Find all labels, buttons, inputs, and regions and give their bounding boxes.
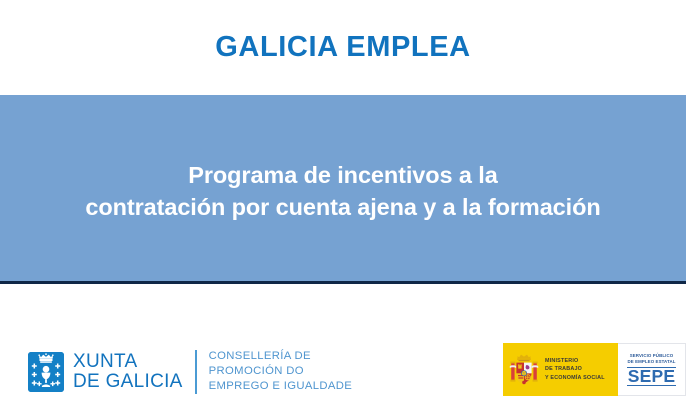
ministerio-line-2: DE TRABAJO (545, 365, 605, 373)
banner-text-block: Programa de incentivos a la contratación… (85, 153, 600, 224)
sepe-subtitle: SERVICIO PÚBLICO DE EMPLEO ESTATAL (627, 353, 675, 366)
conselleria-line-3: EMPREGO E IGUALDADE (209, 379, 353, 394)
ministerio-wordmark: MINISTERIO DE TRABAJO Y ECONOMÍA SOCIAL (545, 357, 605, 381)
xunta-wordmark-line-1: XUNTA (73, 352, 183, 371)
banner-line-2: contratación por cuenta ajena y a la for… (85, 191, 600, 223)
ministerio-line-1: MINISTERIO (545, 357, 605, 365)
spain-coat-of-arms-icon (508, 350, 540, 390)
xunta-de-galicia-logo: XUNTA DE GALICIA CONSELLERÍA DE PROMOCIÓ… (28, 349, 352, 394)
conselleria-line-1: CONSELLERÍA DE (209, 349, 353, 364)
ministerio-line-3: Y ECONOMÍA SOCIAL (545, 374, 605, 382)
xunta-wordmark-line-2: DE GALICIA (73, 372, 183, 391)
logo-divider (195, 350, 197, 394)
title-zone: GALICIA EMPLEA (0, 0, 686, 95)
conselleria-line-2: PROMOCIÓN DO (209, 364, 353, 379)
program-banner: Programa de incentivos a la contratación… (0, 95, 686, 284)
footer-logo-bar: XUNTA DE GALICIA CONSELLERÍA DE PROMOCIÓ… (0, 287, 686, 410)
gobierno-de-espana-logo: MINISTERIO DE TRABAJO Y ECONOMÍA SOCIAL … (503, 343, 686, 396)
sepe-logo: SERVICIO PÚBLICO DE EMPLEO ESTATAL SEPE (618, 343, 686, 396)
sepe-subtitle-line-2: DE EMPLEO ESTATAL (627, 359, 675, 365)
conselleria-wordmark: CONSELLERÍA DE PROMOCIÓN DO EMPREGO E IG… (209, 349, 353, 394)
sepe-wordmark: SEPE (627, 367, 677, 387)
xunta-wordmark: XUNTA DE GALICIA (73, 352, 183, 391)
ministerio-block: MINISTERIO DE TRABAJO Y ECONOMÍA SOCIAL (503, 343, 618, 396)
banner-line-1: Programa de incentivos a la (85, 159, 600, 191)
page-title: GALICIA EMPLEA (215, 33, 470, 62)
xunta-de-galicia-coat-of-arms-icon (28, 352, 64, 392)
